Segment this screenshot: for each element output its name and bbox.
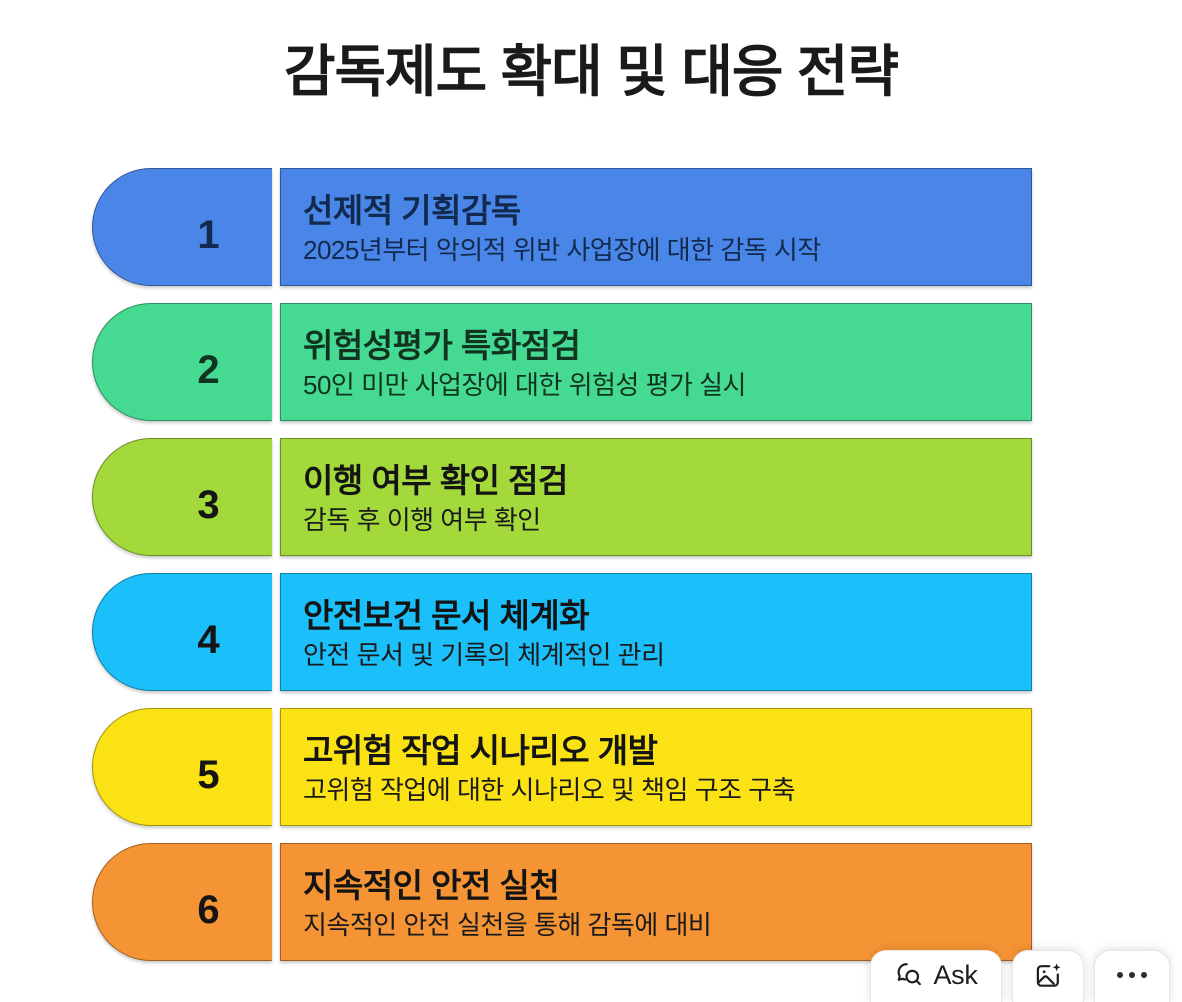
step-index-cap: 4	[92, 573, 272, 691]
step-index-cap: 1	[92, 168, 272, 286]
ellipsis-icon	[1117, 972, 1147, 978]
step-row: 3이행 여부 확인 점검감독 후 이행 여부 확인	[92, 438, 1032, 556]
step-body: 선제적 기획감독2025년부터 악의적 위반 사업장에 대한 감독 시작	[280, 168, 1032, 286]
step-number: 2	[197, 350, 219, 390]
ask-label: Ask	[933, 962, 977, 989]
step-number: 4	[197, 620, 219, 660]
step-description: 50인 미만 사업장에 대한 위험성 평가 실시	[303, 370, 1011, 401]
floating-toolbar: Ask	[870, 950, 1170, 1002]
step-row: 1선제적 기획감독2025년부터 악의적 위반 사업장에 대한 감독 시작	[92, 168, 1032, 286]
step-index-cap: 3	[92, 438, 272, 556]
image-sparkle-icon	[1033, 960, 1064, 991]
step-body: 이행 여부 확인 점검감독 후 이행 여부 확인	[280, 438, 1032, 556]
step-description: 2025년부터 악의적 위반 사업장에 대한 감독 시작	[303, 235, 1011, 266]
step-description: 감독 후 이행 여부 확인	[303, 505, 1011, 536]
step-number: 3	[197, 485, 219, 525]
ask-button[interactable]: Ask	[870, 950, 1002, 1002]
step-index-cap: 2	[92, 303, 272, 421]
step-row: 4안전보건 문서 체계화안전 문서 및 기록의 체계적인 관리	[92, 573, 1032, 691]
step-row: 6지속적인 안전 실천지속적인 안전 실천을 통해 감독에 대비	[92, 843, 1032, 961]
page-title: 감독제도 확대 및 대응 전략	[0, 0, 1182, 110]
chat-search-icon	[894, 960, 924, 990]
step-index-cap: 6	[92, 843, 272, 961]
step-index-cap: 5	[92, 708, 272, 826]
step-description: 지속적인 안전 실천을 통해 감독에 대비	[303, 910, 1011, 941]
step-heading: 위험성평가 특화점검	[303, 327, 1011, 365]
step-heading: 지속적인 안전 실천	[303, 867, 1011, 905]
step-row: 2위험성평가 특화점검50인 미만 사업장에 대한 위험성 평가 실시	[92, 303, 1032, 421]
step-heading: 이행 여부 확인 점검	[303, 462, 1011, 500]
step-body: 안전보건 문서 체계화안전 문서 및 기록의 체계적인 관리	[280, 573, 1032, 691]
step-number: 5	[197, 755, 219, 795]
step-heading: 고위험 작업 시나리오 개발	[303, 732, 1011, 770]
steps-list: 1선제적 기획감독2025년부터 악의적 위반 사업장에 대한 감독 시작2위험…	[92, 168, 1032, 978]
step-body: 지속적인 안전 실천지속적인 안전 실천을 통해 감독에 대비	[280, 843, 1032, 961]
more-button[interactable]	[1094, 950, 1170, 1002]
step-heading: 안전보건 문서 체계화	[303, 597, 1011, 635]
image-edit-button[interactable]	[1012, 950, 1084, 1002]
step-row: 5고위험 작업 시나리오 개발고위험 작업에 대한 시나리오 및 책임 구조 구…	[92, 708, 1032, 826]
step-body: 고위험 작업 시나리오 개발고위험 작업에 대한 시나리오 및 책임 구조 구축	[280, 708, 1032, 826]
step-description: 안전 문서 및 기록의 체계적인 관리	[303, 640, 1011, 671]
step-body: 위험성평가 특화점검50인 미만 사업장에 대한 위험성 평가 실시	[280, 303, 1032, 421]
step-number: 1	[197, 215, 219, 255]
step-description: 고위험 작업에 대한 시나리오 및 책임 구조 구축	[303, 775, 1011, 806]
step-number: 6	[197, 890, 219, 930]
step-heading: 선제적 기획감독	[303, 192, 1011, 230]
